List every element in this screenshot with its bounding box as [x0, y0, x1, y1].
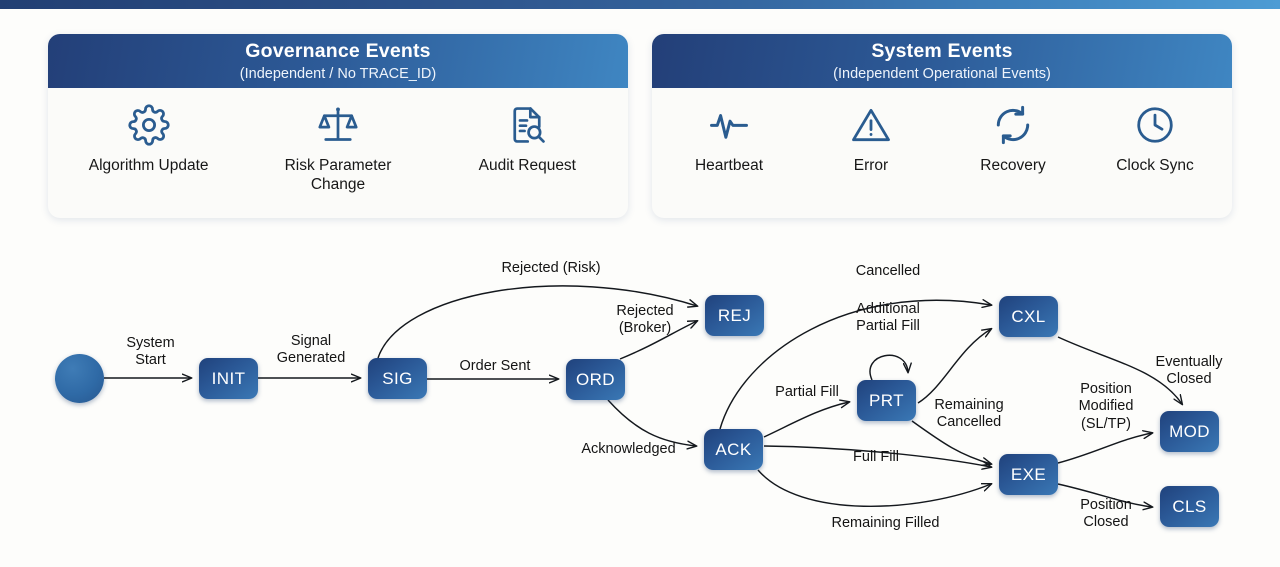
state-label: EXE — [1011, 465, 1046, 485]
gear-icon — [128, 102, 170, 148]
state-label: SIG — [382, 369, 413, 389]
edge-label-rejected-risk: Rejected (Risk) — [481, 260, 621, 277]
event-heartbeat[interactable]: Heartbeat — [669, 102, 789, 176]
event-risk-parameter-change[interactable]: Risk Parameter Change — [268, 102, 408, 195]
event-audit-request[interactable]: Audit Request — [457, 102, 597, 176]
state-label: MOD — [1169, 422, 1210, 442]
state-label: ACK — [715, 440, 751, 460]
state-node-cls[interactable]: CLS — [1160, 486, 1219, 527]
start-circle — [55, 354, 104, 403]
governance-panel-title: Governance Events — [245, 41, 430, 62]
edge-label-acknowledged: Acknowledged — [566, 441, 691, 458]
event-algorithm-update[interactable]: Algorithm Update — [79, 102, 219, 176]
event-label: Risk Parameter Change — [268, 157, 408, 195]
edge-ack-prt — [764, 402, 849, 437]
edge-label-cancelled: Cancelled — [828, 263, 948, 280]
edge-exe-mod — [1058, 433, 1152, 463]
edge-label-full-fill: Full Fill — [836, 449, 916, 466]
system-panel-body: Heartbeat Error — [652, 88, 1232, 176]
governance-events-panel: Governance Events (Independent / No TRAC… — [48, 34, 628, 218]
edge-label-remaining-filled: Remaining Filled — [818, 515, 953, 532]
system-panel-title: System Events — [871, 41, 1012, 62]
event-error[interactable]: Error — [811, 102, 931, 176]
governance-panel-subtitle: (Independent / No TRACE_ID) — [240, 65, 436, 83]
edge-prt-cxl — [918, 329, 991, 403]
edge-label-position-modified: Position Modified (SL/TP) — [1058, 381, 1154, 433]
state-node-ord[interactable]: ORD — [566, 359, 625, 400]
scales-icon — [317, 102, 359, 148]
state-label: REJ — [718, 306, 751, 326]
edge-label-system-start: System Start — [113, 335, 188, 370]
state-label: CLS — [1172, 497, 1206, 517]
edge-ord-ack — [608, 400, 696, 446]
diagram-stage: Governance Events (Independent / No TRAC… — [0, 9, 1280, 567]
state-node-exe[interactable]: EXE — [999, 454, 1058, 495]
warning-triangle-icon — [850, 102, 892, 148]
governance-panel-body: Algorithm Update Risk Parameter Change — [48, 88, 628, 195]
state-node-cxl[interactable]: CXL — [999, 296, 1058, 337]
state-node-rej[interactable]: REJ — [705, 295, 764, 336]
heartbeat-icon — [708, 102, 750, 148]
edge-label-rejected-broker: Rejected (Broker) — [590, 303, 700, 338]
state-label: PRT — [869, 391, 904, 411]
state-label: INIT — [212, 369, 246, 389]
event-clock-sync[interactable]: Clock Sync — [1095, 102, 1215, 176]
edge-label-partial-fill: Partial Fill — [763, 384, 851, 401]
event-label: Clock Sync — [1116, 157, 1194, 176]
top-accent-bar — [0, 0, 1280, 9]
state-node-sig[interactable]: SIG — [368, 358, 427, 399]
edge-ack-exe-remaining — [758, 470, 991, 506]
edge-label-position-closed: Position Closed — [1060, 497, 1152, 532]
state-label: CXL — [1011, 307, 1045, 327]
system-panel-subtitle: (Independent Operational Events) — [833, 65, 1051, 83]
state-node-ack[interactable]: ACK — [704, 429, 763, 470]
system-events-panel: System Events (Independent Operational E… — [652, 34, 1232, 218]
state-node-init[interactable]: INIT — [199, 358, 258, 399]
event-label: Heartbeat — [695, 157, 763, 176]
edge-label-remaining-cancelled: Remaining Cancelled — [917, 397, 1021, 432]
order-state-machine: INIT SIG ORD REJ ACK PRT CXL EXE MOD CLS… — [0, 241, 1280, 567]
edge-prt-self — [870, 355, 908, 380]
refresh-cycle-icon — [992, 102, 1034, 148]
system-panel-header: System Events (Independent Operational E… — [652, 34, 1232, 88]
governance-panel-header: Governance Events (Independent / No TRAC… — [48, 34, 628, 88]
clock-icon — [1134, 102, 1176, 148]
state-node-prt[interactable]: PRT — [857, 380, 916, 421]
event-recovery[interactable]: Recovery — [953, 102, 1073, 176]
event-label: Audit Request — [479, 157, 576, 176]
document-search-icon — [506, 102, 548, 148]
edge-label-additional-partial-fill: Additional Partial Fill — [824, 301, 952, 336]
state-label: ORD — [576, 370, 615, 390]
edge-label-order-sent: Order Sent — [445, 358, 545, 375]
edge-label-signal-generated: Signal Generated — [256, 333, 366, 368]
event-label: Algorithm Update — [89, 157, 209, 176]
event-label: Recovery — [980, 157, 1045, 176]
event-label: Error — [854, 157, 888, 176]
state-node-mod[interactable]: MOD — [1160, 411, 1219, 452]
